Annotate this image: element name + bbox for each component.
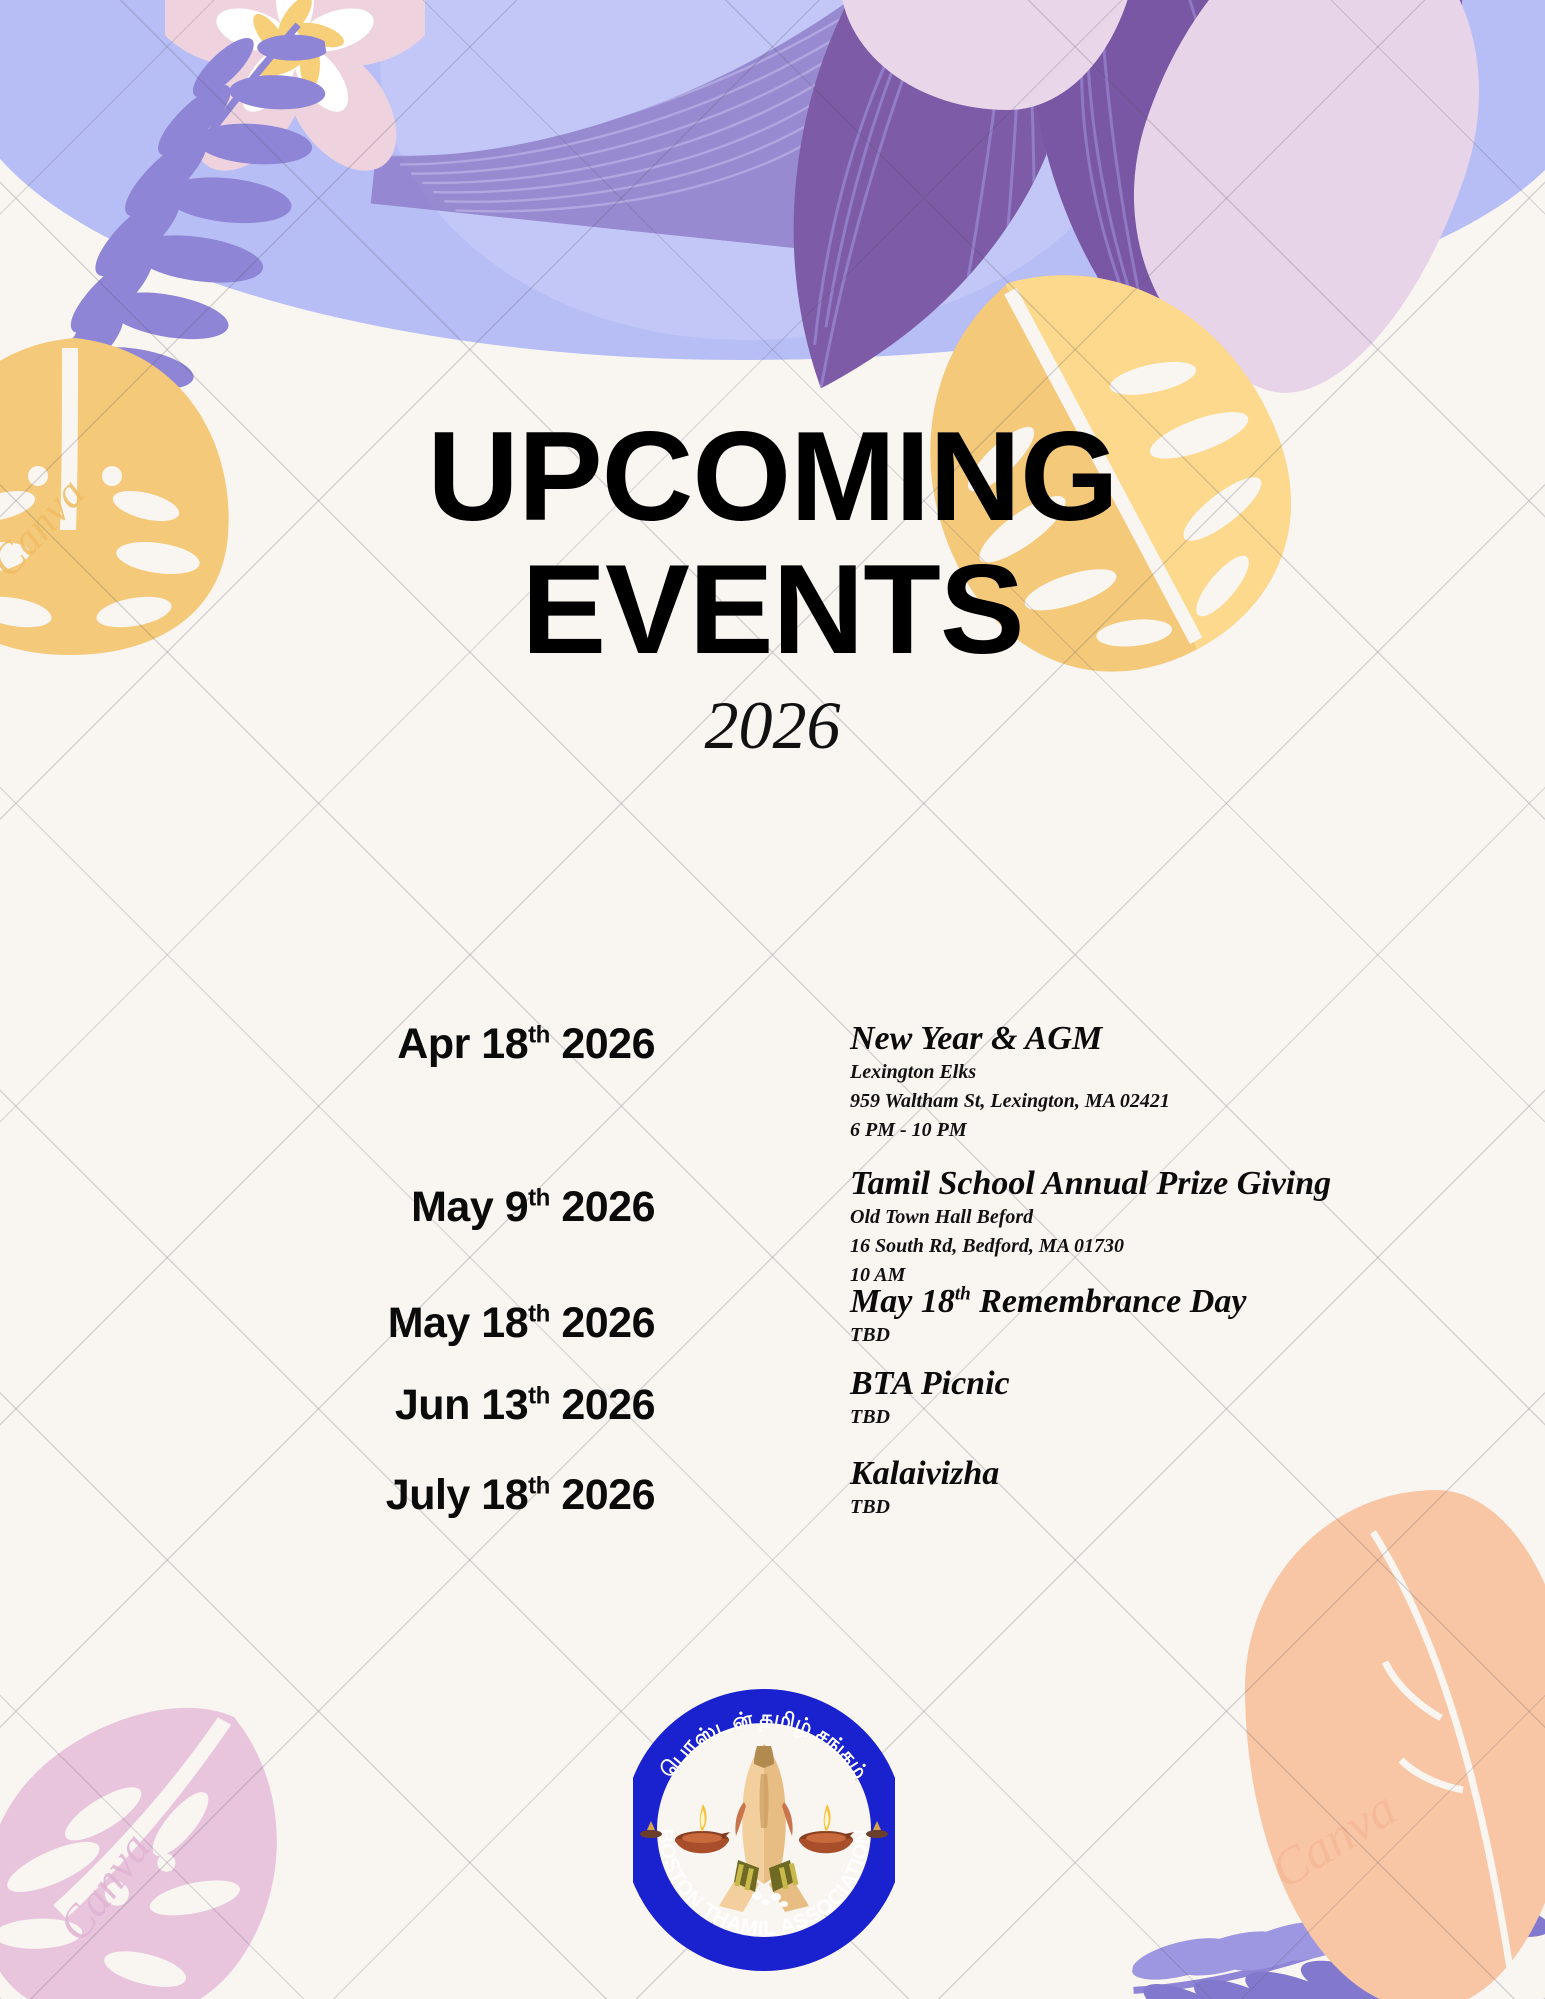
- event-date-day: 18: [481, 1299, 528, 1347]
- event-date-ordinal: th: [528, 1022, 550, 1049]
- event-date-year: 2026: [561, 1299, 655, 1347]
- event-date-day: 13: [481, 1381, 528, 1429]
- peach-blob-vein: Canva: [1245, 1490, 1545, 1999]
- title-line-2: EVENTS: [0, 543, 1545, 676]
- event-date-year: 2026: [561, 1183, 655, 1231]
- title-line-1: UPCOMING: [427, 405, 1118, 547]
- event-date: July 18th 2026: [0, 1471, 655, 1520]
- purple-banana-leaf-center: [366, 0, 895, 255]
- event-date-month: May: [411, 1183, 493, 1231]
- event-date-year: 2026: [561, 1020, 655, 1068]
- purple-fern-leaf-bottom-right: [1126, 1717, 1545, 1999]
- event-name: New Year & AGM: [850, 1020, 1490, 1058]
- event-date-ordinal: th: [528, 1383, 550, 1410]
- event-date-ordinal: th: [528, 1473, 550, 1500]
- event-details: New Year & AGM Lexington Elks 959 Waltha…: [850, 1020, 1490, 1145]
- event-date: Jun 13th 2026: [0, 1381, 655, 1430]
- event-date-month: Jun: [395, 1381, 470, 1429]
- canva-watermark-text-pink: Canva: [48, 1823, 160, 1950]
- purple-fern-leaf-top-left: [0, 0, 378, 474]
- event-address: 959 Waltham St, Lexington, MA 02421: [850, 1087, 1490, 1116]
- purple-banana-leaf-left: [696, 0, 1184, 443]
- purple-banana-leaf-mid: [960, 0, 1341, 368]
- event-date-year: 2026: [561, 1381, 655, 1429]
- event-date-ordinal: th: [528, 1301, 550, 1328]
- event-date-year: 2026: [561, 1471, 655, 1519]
- peach-organic-blob: [1245, 1490, 1545, 1999]
- event-details: Tamil School Annual Prize Giving Old Tow…: [850, 1165, 1490, 1290]
- hibiscus-flower-icon: [165, 0, 425, 175]
- event-address: 16 South Rd, Bedford, MA 01730: [850, 1232, 1490, 1261]
- event-name-ordinal: th: [955, 1284, 971, 1305]
- event-name: Kalaivizha: [850, 1455, 1490, 1493]
- boston-thamil-association-logo: பொஸ்டன் தமிழ் சங்கம் BOSTON THAMIL ASSOC…: [633, 1678, 895, 1978]
- event-date-ordinal: th: [528, 1185, 550, 1212]
- event-venue: Lexington Elks: [850, 1058, 1490, 1087]
- periwinkle-wave-background: [0, 0, 1545, 360]
- event-name: Tamil School Annual Prize Giving: [850, 1165, 1490, 1203]
- event-date-day: 9: [505, 1183, 528, 1231]
- purple-banana-leaf-right: [1088, 0, 1545, 416]
- event-name: May 18th Remembrance Day: [850, 1283, 1490, 1321]
- event-venue: TBD: [850, 1403, 1490, 1432]
- event-date-day: 18: [481, 1020, 528, 1068]
- canva-watermark-text-peach: Canva: [1261, 1780, 1406, 1900]
- event-name-main: May 18: [850, 1283, 955, 1320]
- poster-canvas: Canva Canva: [0, 0, 1545, 1999]
- page-title: UPCOMING EVENTS: [0, 410, 1545, 677]
- event-details: BTA Picnic TBD: [850, 1365, 1490, 1432]
- event-date: May 9th 2026: [0, 1183, 655, 1232]
- event-date: Apr 18th 2026: [0, 1020, 655, 1069]
- event-name: BTA Picnic: [850, 1365, 1490, 1403]
- event-details: Kalaivizha TBD: [850, 1455, 1490, 1522]
- year-subtitle: 2026: [0, 686, 1545, 765]
- pink-monstera-leaf-bottom-left: Canva: [0, 1684, 316, 1999]
- event-date-day: 18: [481, 1471, 528, 1519]
- event-venue: TBD: [850, 1321, 1490, 1350]
- periwinkle-wave-highlight: [380, 0, 1140, 340]
- event-details: May 18th Remembrance Day TBD: [850, 1283, 1490, 1350]
- event-time: 6 PM - 10 PM: [850, 1116, 1490, 1145]
- event-venue: TBD: [850, 1493, 1490, 1522]
- event-date-month: July: [386, 1471, 470, 1519]
- event-name-suffix: Remembrance Day: [971, 1283, 1247, 1320]
- lilac-blob-right: [1079, 0, 1532, 428]
- event-date: May 18th 2026: [0, 1299, 655, 1348]
- event-date-month: May: [388, 1299, 470, 1347]
- event-venue: Old Town Hall Beford: [850, 1203, 1490, 1232]
- lilac-blob-top: [840, 0, 1140, 110]
- event-date-month: Apr: [397, 1020, 470, 1068]
